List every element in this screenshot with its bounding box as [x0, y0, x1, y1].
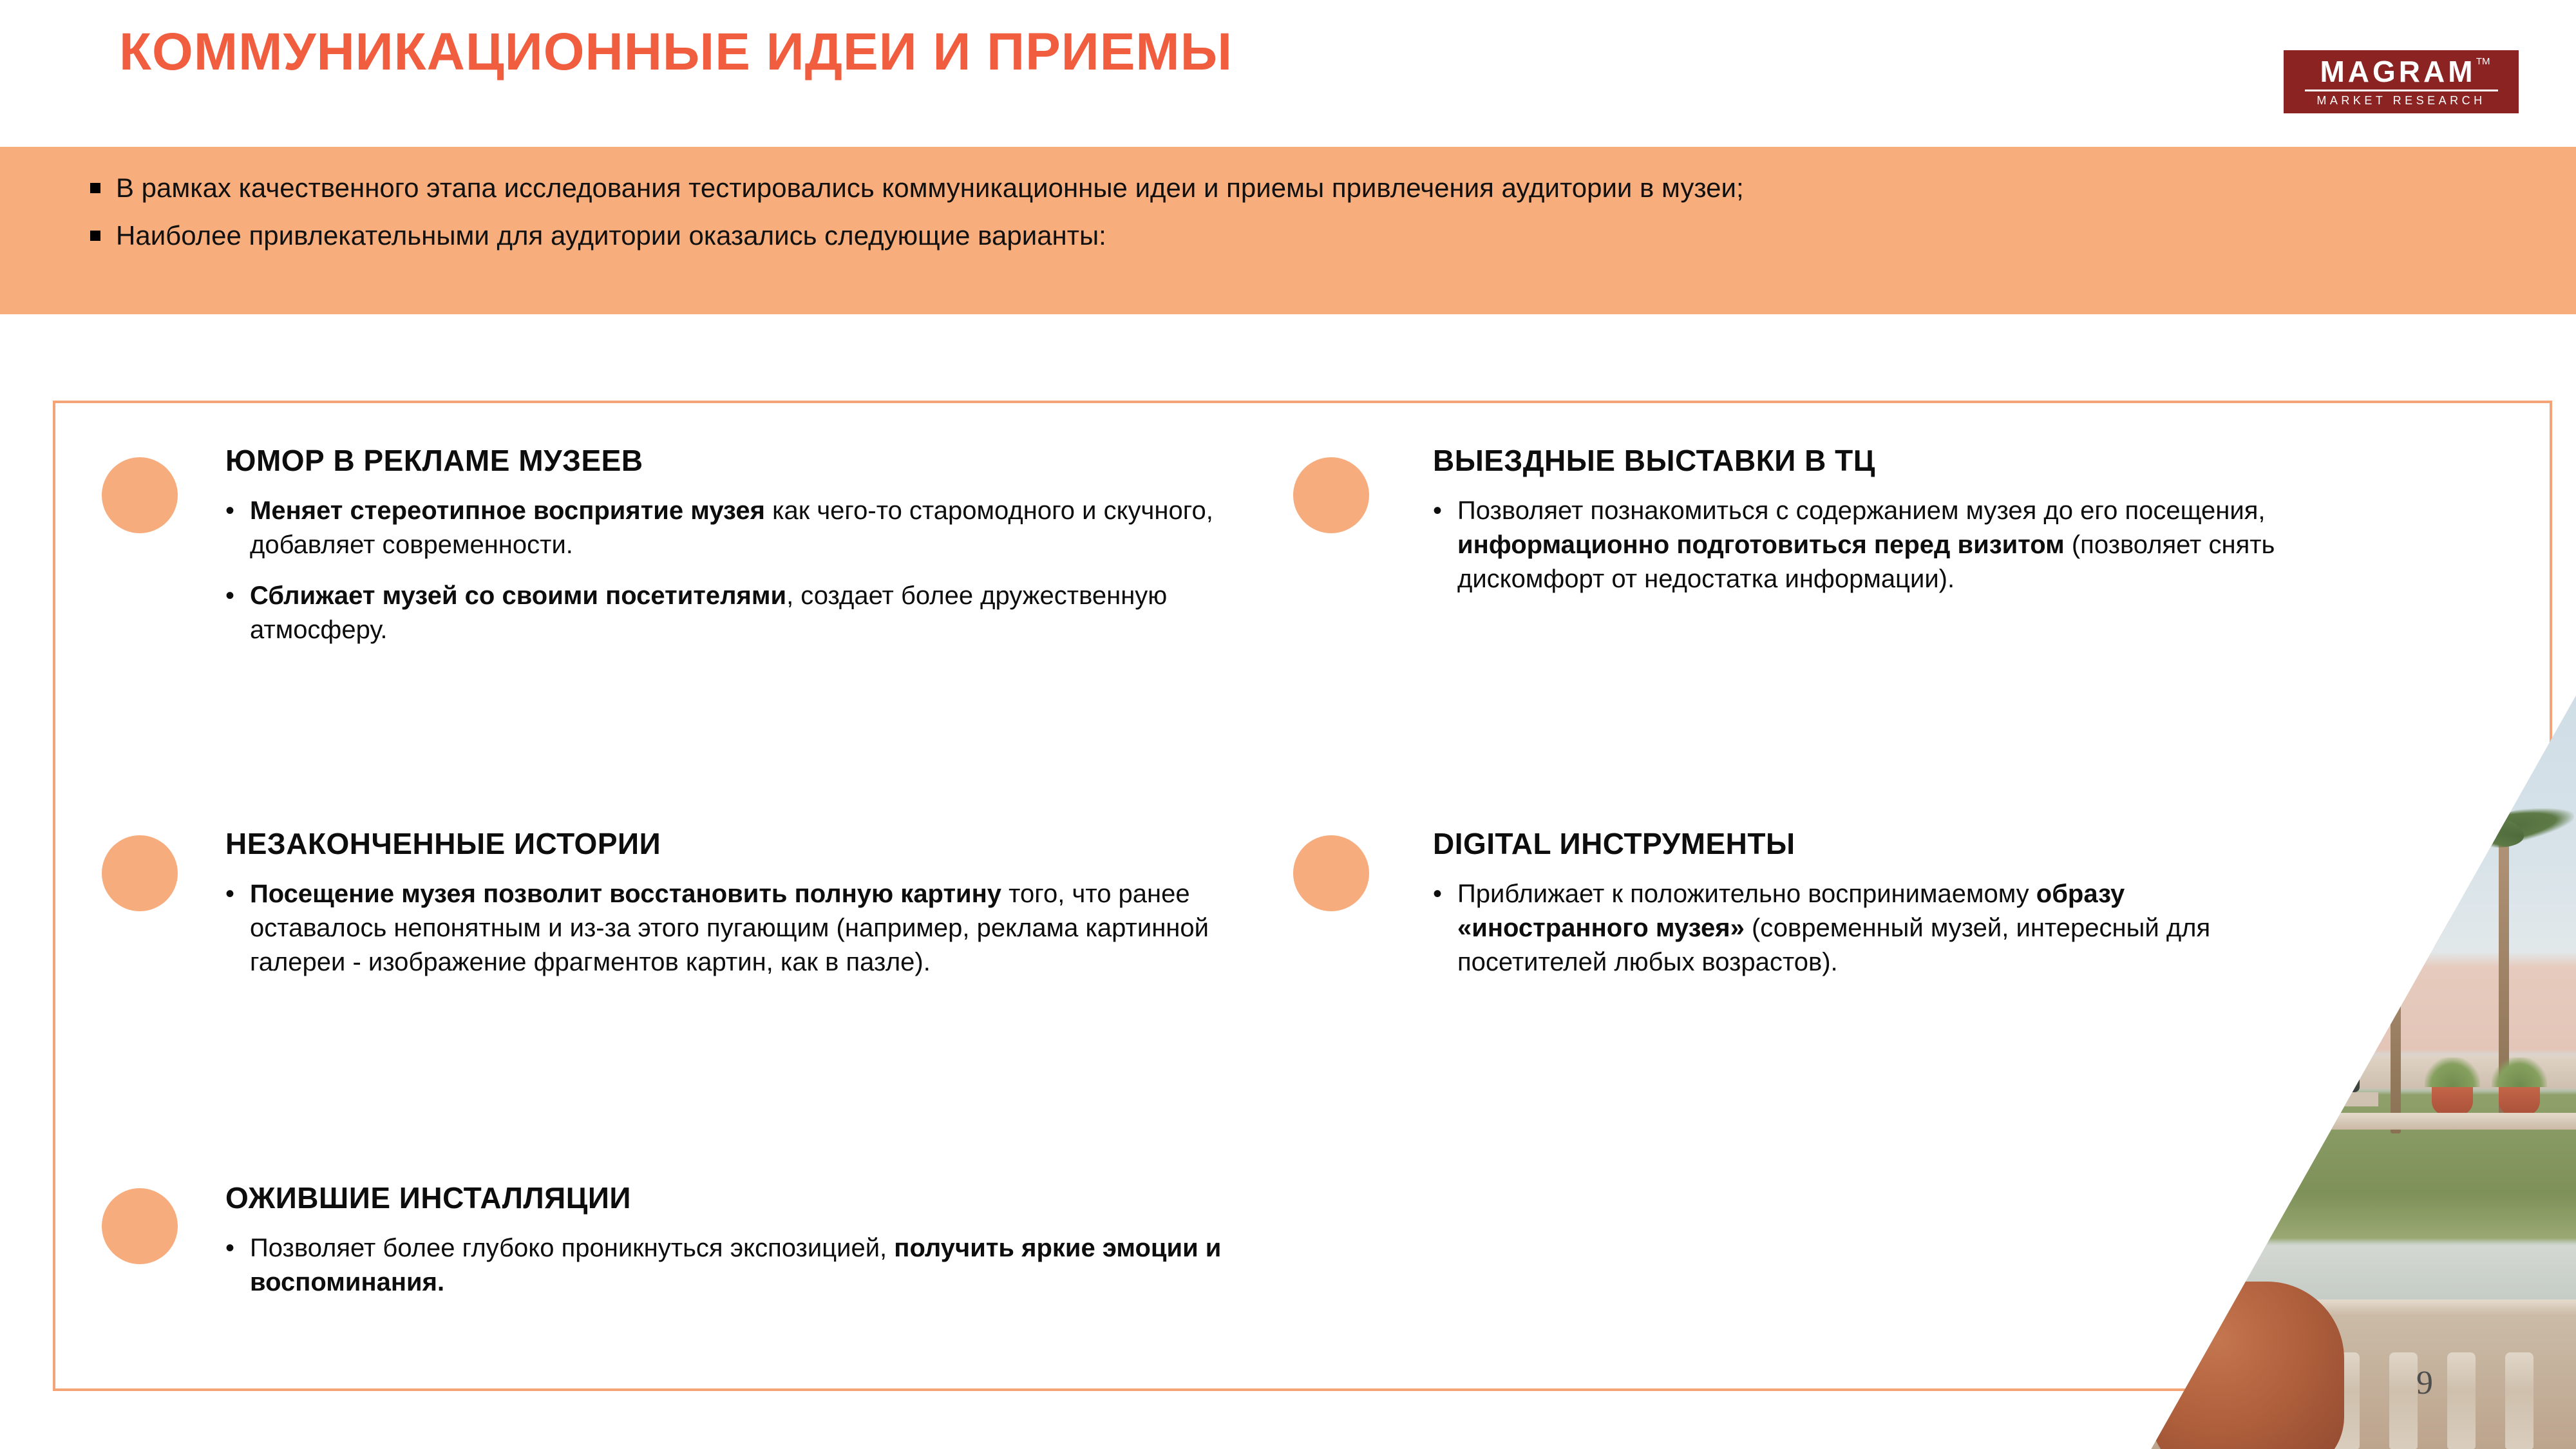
potted-plant [2492, 1057, 2547, 1087]
idea-block-popup-exhibitions: ВЫЕЗДНЫЕ ВЫСТАВКИ В ТЦ • Позволяет позна… [1294, 444, 2325, 596]
block-heading: НЕЗАКОНЧЕННЫЕ ИСТОРИИ [225, 828, 1236, 860]
baluster [2389, 1352, 2418, 1449]
list-item-text: Позволяет познакомиться с содержанием му… [1457, 494, 2325, 597]
accent-dot [1293, 835, 1369, 911]
block-list: • Приближает к положительно воспринимаем… [1433, 877, 2299, 980]
block-heading: ОЖИВШИЕ ИНСТАЛЛЯЦИИ [225, 1182, 1236, 1215]
bullet-icon: • [225, 494, 250, 528]
magram-logo: MAGRAMTM MARKET RESEARCH [2284, 50, 2519, 113]
bullet-icon: • [1433, 877, 1457, 911]
baluster [2505, 1352, 2533, 1449]
page-number: 9 [2416, 1364, 2433, 1402]
idea-block-living-installations: ОЖИВШИЕ ИНСТАЛЛЯЦИИ • Позволяет более гл… [103, 1182, 1236, 1300]
bullet-icon: • [225, 877, 250, 911]
idea-block-humor: ЮМОР В РЕКЛАМЕ МУЗЕЕВ • Меняет стереотип… [103, 444, 1236, 647]
idea-block-digital-tools: DIGITAL ИНСТРУМЕНТЫ • Приближает к полож… [1294, 828, 2299, 980]
bullet-icon: • [1433, 494, 1457, 528]
list-item: • Позволяет познакомиться с содержанием … [1433, 494, 2325, 597]
list-item-text: Меняет стереотипное восприятие музея как… [250, 494, 1236, 562]
bullet-icon: • [225, 1231, 250, 1265]
accent-dot [102, 835, 178, 911]
logo-name: MAGRAM [2320, 55, 2476, 88]
square-bullet-icon [90, 183, 100, 193]
banner-line: Наиболее привлекательными для аудитории … [90, 218, 2576, 254]
logo-tagline: MARKET RESEARCH [2316, 95, 2485, 106]
block-heading: DIGITAL ИНСТРУМЕНТЫ [1433, 828, 2299, 860]
block-list: • Позволяет познакомиться с содержанием … [1433, 494, 2325, 597]
list-item: • Позволяет более глубоко проникнуться э… [225, 1231, 1236, 1300]
block-list: • Позволяет более глубоко проникнуться э… [225, 1231, 1236, 1300]
logo-wordmark: MAGRAMTM [2320, 57, 2482, 86]
bullet-icon: • [225, 579, 250, 613]
page-title: КОММУНИКАЦИОННЫЕ ИДЕИ И ПРИЕМЫ [119, 24, 1233, 80]
list-item: • Приближает к положительно воспринимаем… [1433, 877, 2299, 980]
baluster [2447, 1352, 2476, 1449]
list-item-text: Посещение музея позволит восстановить по… [250, 877, 1236, 980]
banner-line: В рамках качественного этапа исследовани… [90, 170, 2576, 206]
slide: КОММУНИКАЦИОННЫЕ ИДЕИ И ПРИЕМЫ MAGRAMTM … [0, 0, 2576, 1449]
logo-trademark-icon: TM [2476, 57, 2490, 66]
logo-divider [2305, 90, 2498, 91]
potted-plant [2425, 1057, 2480, 1087]
intro-banner: В рамках качественного этапа исследовани… [0, 147, 2576, 314]
block-list: • Меняет стереотипное восприятие музея к… [225, 494, 1236, 648]
block-heading: ВЫЕЗДНЫЕ ВЫСТАВКИ В ТЦ [1433, 444, 2325, 477]
list-item: • Посещение музея позволит восстановить … [225, 877, 1236, 980]
list-item: • Сближает музей со своими посетителями,… [225, 579, 1236, 647]
accent-dot [102, 457, 178, 533]
banner-line-text: В рамках качественного этапа исследовани… [116, 170, 1744, 206]
block-heading: ЮМОР В РЕКЛАМЕ МУЗЕЕВ [225, 444, 1236, 477]
square-bullet-icon [90, 231, 100, 241]
list-item-text: Сближает музей со своими посетителями, с… [250, 579, 1236, 647]
accent-dot [102, 1188, 178, 1264]
list-item-text: Приближает к положительно воспринимаемом… [1457, 877, 2299, 980]
banner-line-text: Наиболее привлекательными для аудитории … [116, 218, 1106, 254]
list-item: • Меняет стереотипное восприятие музея к… [225, 494, 1236, 562]
block-list: • Посещение музея позволит восстановить … [225, 877, 1236, 980]
list-item-text: Позволяет более глубоко проникнуться экс… [250, 1231, 1236, 1300]
idea-block-unfinished-stories: НЕЗАКОНЧЕННЫЕ ИСТОРИИ • Посещение музея … [103, 828, 1236, 980]
accent-dot [1293, 457, 1369, 533]
